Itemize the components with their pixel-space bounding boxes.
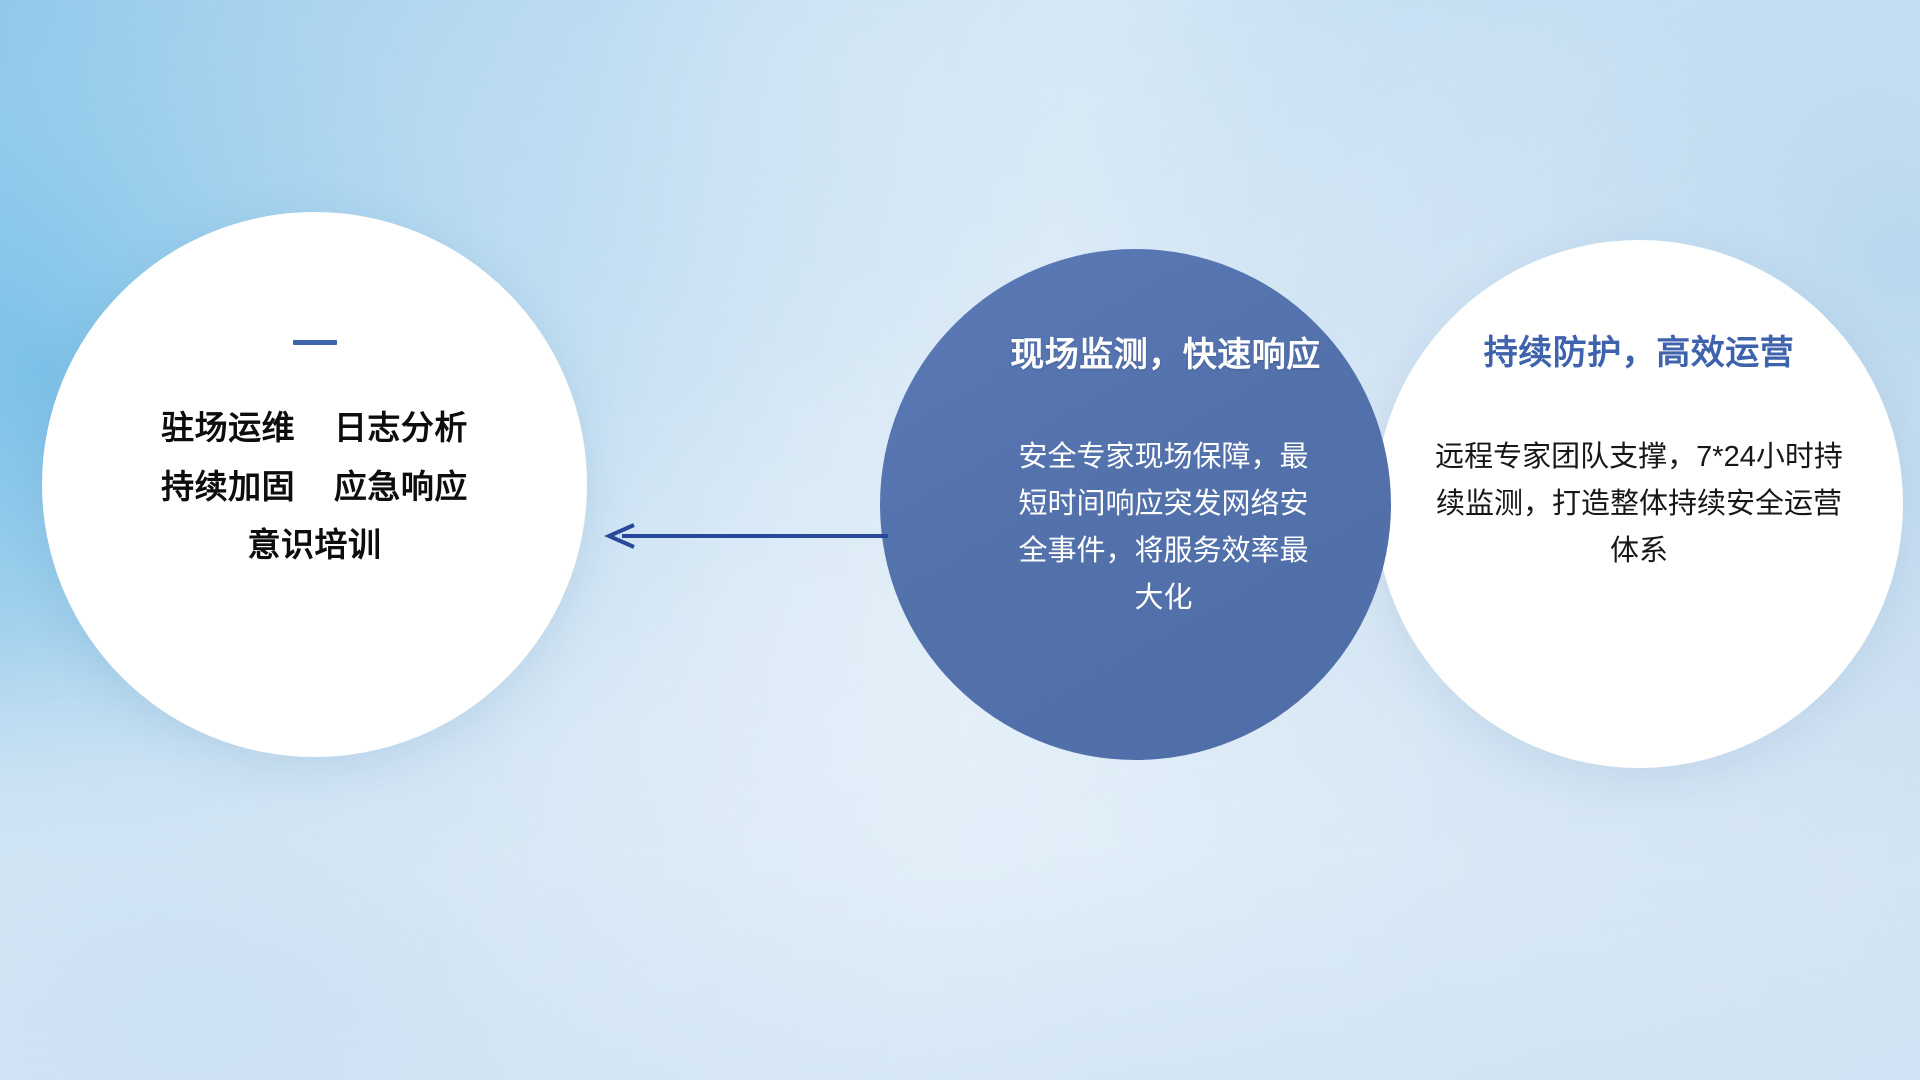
onsite-monitoring-body: 安全专家现场保障，最短时间响应突发网络安全事件，将服务效率最大化	[1005, 434, 1323, 622]
onsite-monitoring-title: 现场监测，快速响应	[1010, 327, 1321, 376]
remote-operations-circle: 持续防护，高效运营 远程专家团队支撑，7*24小时持续监测，打造整体持续安全运营…	[1375, 240, 1903, 768]
service-list-circle: 驻场运维 日志分析 持续加固 应急响应 意识培训	[42, 212, 587, 757]
service-line-1: 驻场运维 日志分析	[42, 399, 587, 458]
onsite-monitoring-circle: 现场监测，快速响应 安全专家现场保障，最短时间响应突发网络安全事件，将服务效率最…	[880, 249, 1391, 760]
flow-arrow	[600, 520, 890, 552]
service-list: 驻场运维 日志分析 持续加固 应急响应 意识培训	[42, 399, 587, 575]
divider-dash	[293, 340, 337, 345]
flow-arrow-icon	[600, 520, 890, 552]
service-line-2: 持续加固 应急响应	[42, 458, 587, 517]
remote-operations-body: 远程专家团队支撑，7*24小时持续监测，打造整体持续安全运营体系	[1424, 434, 1854, 575]
remote-operations-title: 持续防护，高效运营	[1484, 325, 1795, 374]
slide-canvas: 驻场运维 日志分析 持续加固 应急响应 意识培训 持续防护，高效运营 远程专家团…	[0, 0, 1920, 1080]
service-line-3: 意识培训	[42, 516, 587, 575]
